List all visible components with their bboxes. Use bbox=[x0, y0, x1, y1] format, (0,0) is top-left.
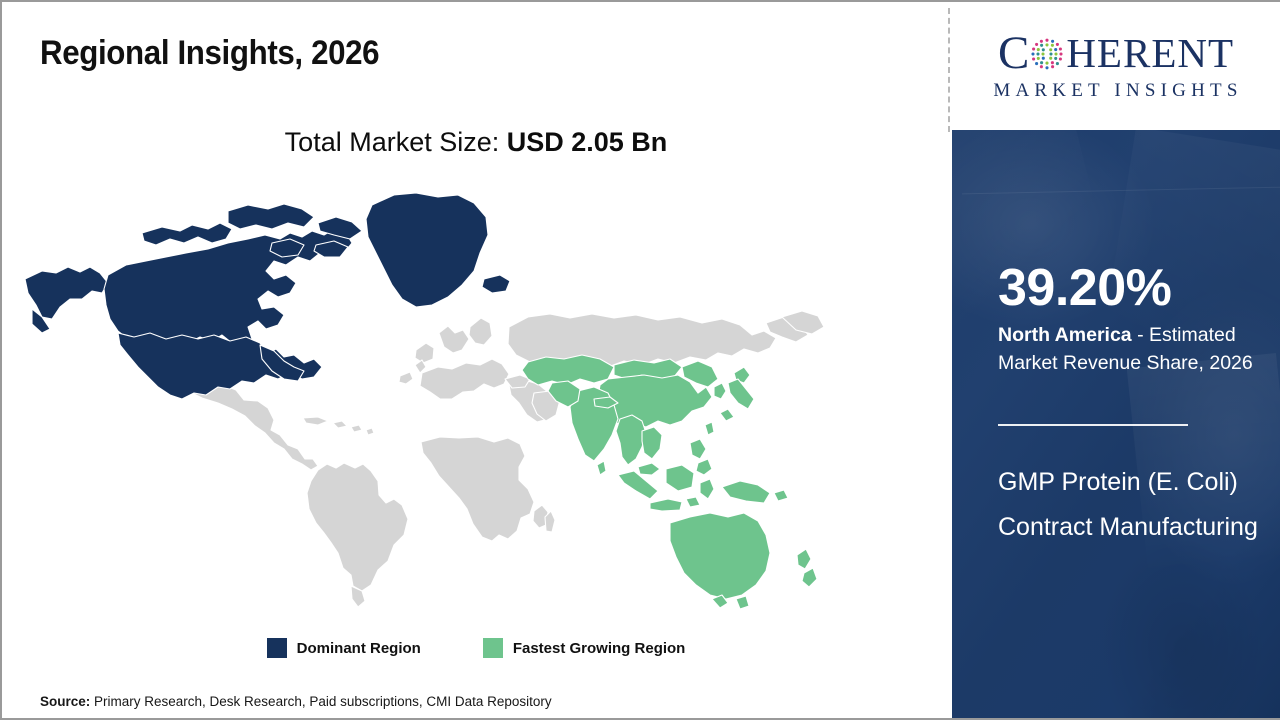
stat-region-name: North America bbox=[998, 324, 1132, 346]
map-legend: Dominant Region Fastest Growing Region bbox=[2, 638, 950, 658]
source-value: Primary Research, Desk Research, Paid su… bbox=[94, 694, 552, 709]
stat-panel: 39.20% North America - Estimated Market … bbox=[952, 130, 1280, 718]
brand-logo: C bbox=[952, 2, 1280, 130]
legend-label-growing: Fastest Growing Region bbox=[513, 640, 686, 657]
logo-letter-c: C bbox=[998, 30, 1030, 77]
total-market-size: Total Market Size: USD 2.05 Bn bbox=[2, 127, 950, 158]
legend-label-dominant: Dominant Region bbox=[297, 640, 421, 657]
world-map-svg bbox=[22, 187, 842, 617]
infographic-slide: Regional Insights, 2026 Total Market Siz… bbox=[0, 0, 1280, 720]
map-region-growing bbox=[522, 355, 817, 609]
logo-wordmark-rest: HERENT bbox=[1066, 33, 1234, 74]
page-title: Regional Insights, 2026 bbox=[40, 34, 379, 73]
logo-wordmark: C bbox=[998, 30, 1234, 77]
right-side-panel: C bbox=[952, 2, 1280, 718]
source-note: Source: Primary Research, Desk Research,… bbox=[40, 694, 552, 709]
left-content-panel: Regional Insights, 2026 Total Market Siz… bbox=[2, 2, 950, 718]
globe-dots-icon bbox=[1030, 37, 1064, 71]
world-map bbox=[22, 187, 842, 617]
stat-description: North America - Estimated Market Revenue… bbox=[998, 322, 1266, 377]
legend-item-dominant-region: Dominant Region bbox=[267, 638, 421, 658]
market-size-label: Total Market Size: bbox=[285, 127, 507, 157]
logo-tagline: MARKET INSIGHTS bbox=[989, 80, 1242, 102]
panel-texture-line bbox=[962, 187, 1280, 195]
panel-divider bbox=[948, 8, 950, 132]
report-title: GMP Protein (E. Coli) Contract Manufactu… bbox=[998, 460, 1260, 549]
globe-dots-svg bbox=[1030, 37, 1064, 71]
stat-divider bbox=[998, 424, 1188, 426]
source-label: Source: bbox=[40, 694, 94, 709]
legend-swatch-growing bbox=[483, 638, 503, 658]
legend-swatch-dominant bbox=[267, 638, 287, 658]
market-size-value: USD 2.05 Bn bbox=[507, 127, 668, 157]
stat-percentage: 39.20% bbox=[998, 262, 1171, 314]
legend-item-fastest-growing-region: Fastest Growing Region bbox=[483, 638, 686, 658]
